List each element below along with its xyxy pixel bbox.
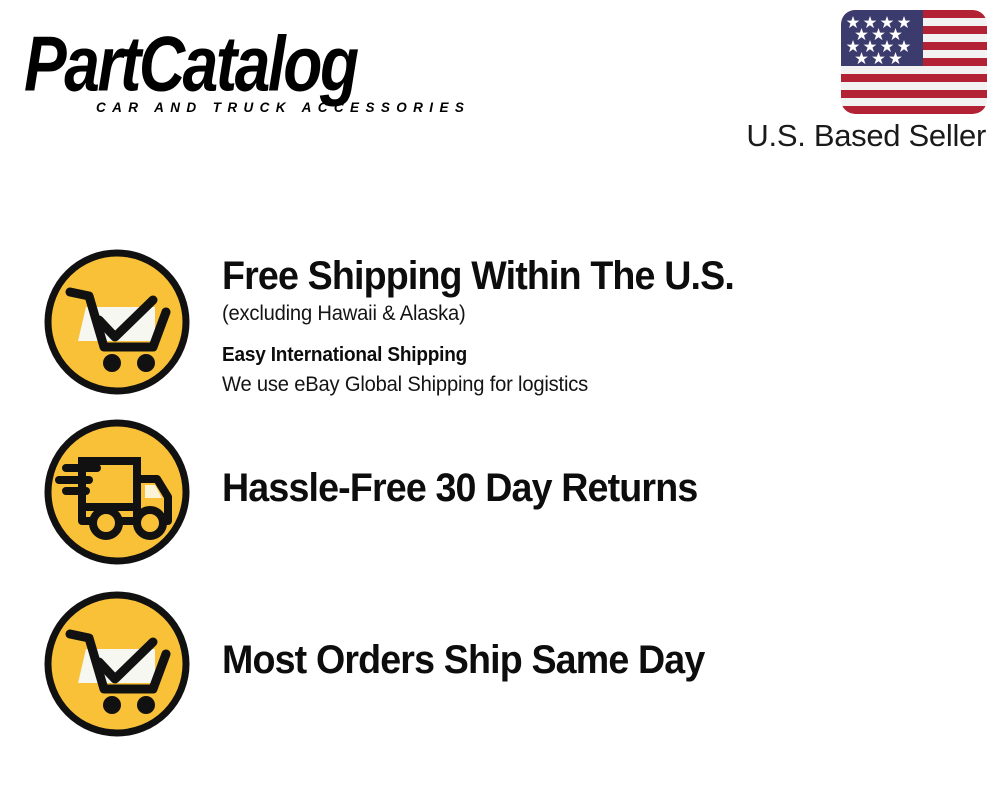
spacer xyxy=(222,329,922,340)
brand-tagline: CAR AND TRUCK ACCESSORIES xyxy=(96,100,470,115)
feature-title: Hassle-Free 30 Day Returns xyxy=(222,465,880,511)
feature-text-block: Hassle-Free 30 Day Returns xyxy=(222,465,922,511)
us-based-seller-label: U.S. Based Seller xyxy=(746,118,986,154)
us-flag-icon xyxy=(841,10,987,114)
brand-wordmark: PartCatalog xyxy=(24,22,480,105)
feature-text-block: Free Shipping Within The U.S. (excluding… xyxy=(222,253,922,400)
feature-subtitle: (excluding Hawaii & Alaska) xyxy=(222,299,894,329)
feature-title: Free Shipping Within The U.S. xyxy=(222,253,880,299)
cart-check-icon xyxy=(42,247,192,397)
feature-sub-heading: Easy International Shipping xyxy=(222,340,887,370)
feature-title: Most Orders Ship Same Day xyxy=(222,637,880,683)
cart-check-icon xyxy=(42,589,192,739)
page-header: PartCatalog CAR AND TRUCK ACCESSORIES xyxy=(0,0,1000,160)
delivery-truck-icon xyxy=(42,417,192,567)
feature-text-block: Most Orders Ship Same Day xyxy=(222,637,922,683)
brand-logo[interactable]: PartCatalog CAR AND TRUCK ACCESSORIES xyxy=(24,22,494,114)
feature-sub-detail: We use eBay Global Shipping for logistic… xyxy=(222,370,894,400)
